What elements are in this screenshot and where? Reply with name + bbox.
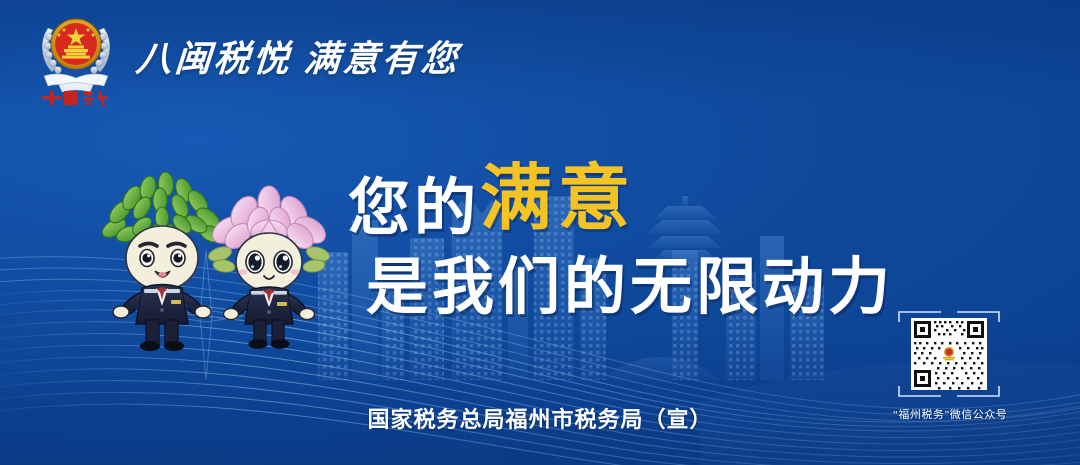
headline-word-highlight: 满意 <box>480 162 636 234</box>
mascot-uniform <box>113 285 211 352</box>
qr-caption: “福州税务”微信公众号 <box>893 406 1005 422</box>
mascot-pair <box>98 172 344 354</box>
mascot-uniform <box>224 287 315 349</box>
china-taxation-emblem <box>28 6 124 106</box>
banyan-leaf-mascot <box>99 172 226 351</box>
headline-line-2: 是我们的无限动力 <box>366 256 888 319</box>
headline-word-2: 是我们的无限动力 <box>366 256 894 318</box>
qr-matrix <box>911 318 987 390</box>
headline-line-1: 您的满意 <box>348 168 888 240</box>
emblem-caption <box>42 91 108 106</box>
poster-header: 八闽税悦 满意有您 <box>0 0 1080 112</box>
qr-block: “福州税务”微信公众号 <box>893 306 1005 422</box>
emblem-book <box>44 74 108 92</box>
headline-word-1: 您的 <box>348 177 480 239</box>
mascot-head <box>126 226 198 290</box>
qr-code[interactable] <box>893 306 1005 402</box>
taxation-emblem-icon <box>941 346 957 362</box>
poster-canvas: 八闽税悦 满意有您 <box>0 0 1080 465</box>
jasmine-flower-mascot <box>207 186 332 349</box>
headline-block: 您的满意 是我们的无限动力 <box>348 168 888 319</box>
header-slogan: 八闽税悦 满意有您 <box>134 30 462 82</box>
emblem-shield <box>51 19 101 69</box>
